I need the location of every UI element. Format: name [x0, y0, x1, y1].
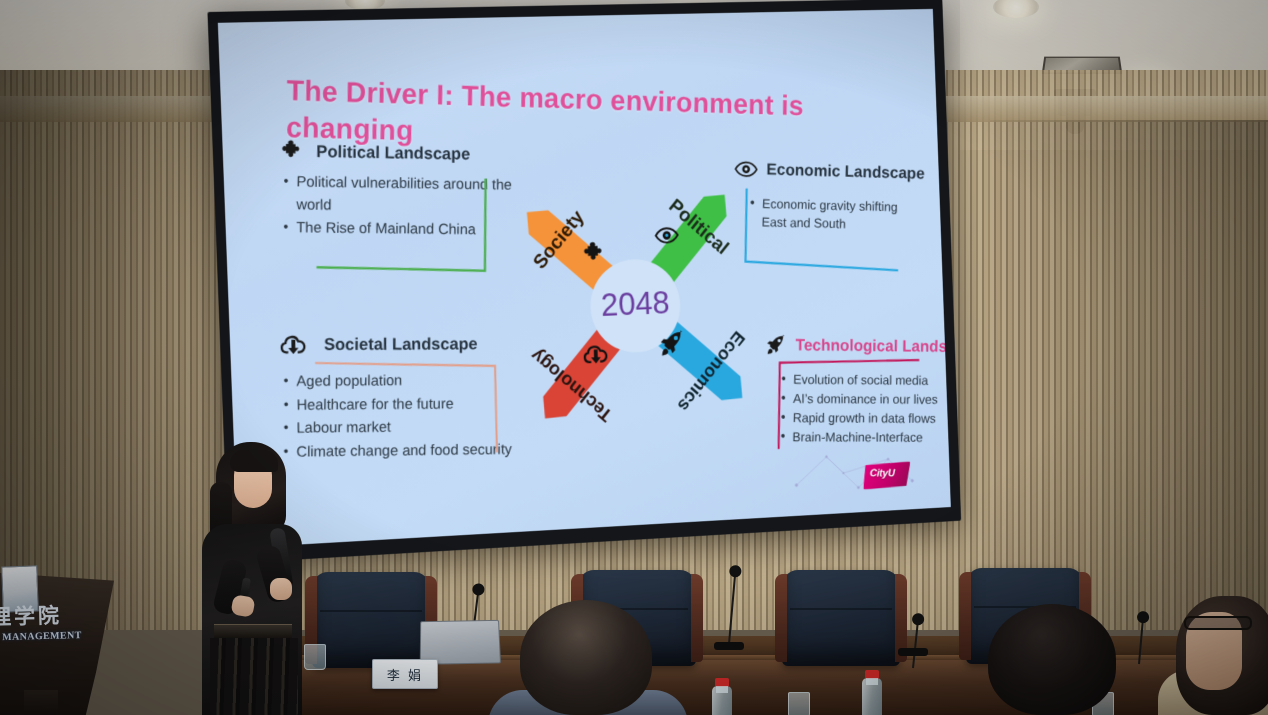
quadrant-technological-header: Technological Landscape — [763, 334, 950, 359]
presenter — [188, 442, 306, 715]
accent-bracket-societal — [307, 358, 500, 458]
microphone-base — [898, 648, 928, 656]
water-bottle — [712, 686, 732, 715]
leather-chair — [782, 570, 900, 666]
drinking-glass — [304, 644, 326, 670]
lectern-sign-chinese: 理学院 — [0, 599, 100, 632]
chair-armrest — [691, 574, 703, 662]
quadrant-technological: Technological Landscape Evolution of soc… — [762, 334, 951, 448]
nameplate-text: 李 娟 — [387, 665, 423, 684]
puzzle-piece-icon — [280, 138, 308, 166]
lectern-stem — [24, 690, 58, 715]
leather-chair — [312, 572, 430, 668]
presentation-slide: The Driver I: The macro environment is c… — [218, 9, 951, 548]
presenter-fringe — [230, 450, 278, 472]
quadrant-technological-title: Technological Landscape — [795, 336, 950, 357]
bottle-neck — [866, 678, 878, 685]
cityu-logo: CityU — [863, 461, 910, 490]
accent-bracket-technological — [769, 357, 924, 451]
photo-scene: The Driver I: The macro environment is c… — [0, 0, 1268, 715]
microphone-base — [714, 642, 744, 650]
audience-member-front-right — [988, 604, 1116, 715]
presenter-skirt — [210, 638, 298, 715]
lectern-sign: 理学院 & MANAGEMENT — [0, 599, 100, 634]
quadrant-political-title: Political Landscape — [316, 142, 470, 164]
water-bottle — [862, 678, 882, 715]
quadrant-political: Political Landscape Political vulnerabil… — [279, 138, 522, 244]
glasses-icon — [1184, 616, 1252, 630]
pinwheel-diagram: Political Economics Technology Society — [488, 154, 779, 461]
projection-screen: The Driver I: The macro environment is c… — [207, 0, 961, 564]
bottle-neck — [716, 686, 728, 693]
audience-member-front-left — [520, 600, 652, 715]
drinking-glass — [788, 692, 810, 715]
quadrant-societal-title: Societal Landscape — [324, 335, 478, 355]
pinwheel-center-year: 2048 — [600, 284, 670, 323]
wall-shadow-right — [990, 120, 1268, 630]
presenter-right-hand — [270, 578, 292, 600]
quadrant-economic-title: Economic Landscape — [766, 160, 925, 183]
cityu-logo-text: CityU — [870, 468, 895, 479]
cloud-download-icon — [280, 331, 309, 359]
accent-bracket-political — [307, 172, 492, 277]
table-nameplate: 李 娟 — [372, 659, 438, 689]
quadrant-political-header: Political Landscape — [280, 138, 522, 170]
